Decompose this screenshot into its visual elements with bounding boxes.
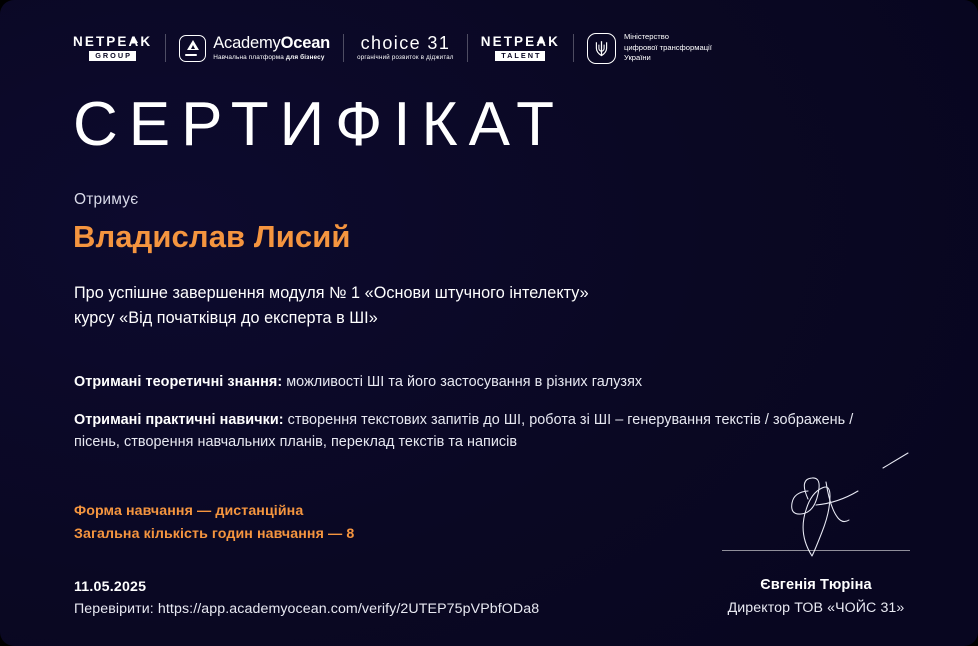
issue-date: 11.05.2025 [74,579,146,595]
logo-choice31: choice 31 органічний розвиток в діджитал [357,29,454,67]
logo-divider [165,34,166,62]
logo-divider [573,34,574,62]
outcome-theory-label: Отримані теоретичні знання: [74,374,282,390]
verify-url[interactable]: https://app.academyocean.com/verify/2UTE… [158,601,539,617]
academyocean-wordmark: AcademyOcean [213,35,330,52]
study-hours: Загальна кількість годин навчання — 8 [74,523,354,546]
outcome-practice-label: Отримані практичні навички: [74,412,284,428]
recipient-name: Владислав Лисий [73,219,351,255]
verify-label: Перевірити: [74,601,158,617]
outcome-practice: Отримані практичні навички: створення те… [74,409,864,453]
certificate-card: NETPEAK GROUP AcademyOcean Навчальна пла… [0,0,978,646]
verify-line: Перевірити: https://app.academyocean.com… [74,601,539,617]
netpeak-group-wordmark: NETPEAK [73,35,152,49]
study-meta: Форма навчання — дистанційна Загальна кі… [74,500,354,546]
peak-triangle-icon [537,36,545,43]
signatory-name: Євгенія Тюріна [722,577,910,593]
netpeak-group-subword: GROUP [89,51,136,61]
course-description: Про успішне завершення модуля № 1 «Основ… [74,281,774,330]
learning-outcomes: Отримані теоретичні знання: можливості Ш… [74,371,864,453]
logo-academy-ocean: AcademyOcean Навчальна платформа для біз… [179,29,330,67]
certificate-title: СЕРТИФІКАТ [73,94,565,156]
handwritten-signature-icon [712,450,922,565]
academyocean-sail-icon [179,35,206,62]
choice31-tagline: органічний розвиток в діджитал [357,55,454,61]
logo-ministry-digital-transformation: Міністерство цифрової трансформації Укра… [587,29,712,67]
ukraine-trident-icon [587,33,616,64]
peak-triangle-icon [130,36,138,43]
signatory-role: Директор ТОВ «ЧОЙС 31» [722,600,910,616]
outcome-theory: Отримані теоретичні знання: можливості Ш… [74,371,864,393]
logo-divider [467,34,468,62]
logo-netpeak-group: NETPEAK GROUP [73,29,152,67]
awarded-to-label: Отримує [74,191,138,209]
signature-rule [722,550,910,551]
partner-logo-bar: NETPEAK GROUP AcademyOcean Навчальна пла… [73,29,712,67]
logo-divider [343,34,344,62]
study-format: Форма навчання — дистанційна [74,500,354,523]
netpeak-talent-wordmark: NETPEAK [481,35,560,49]
choice31-wordmark: choice 31 [357,34,454,52]
logo-netpeak-talent: NETPEAK TALENT [481,29,560,67]
netpeak-talent-subword: TALENT [495,51,545,61]
course-description-line-1: Про успішне завершення модуля № 1 «Основ… [74,281,774,306]
outcome-theory-text: можливості ШІ та його застосування в різ… [282,374,642,390]
ministry-name: Міністерство цифрової трансформації Укра… [624,32,712,63]
course-description-line-2: курсу «Від початківця до експерта в ШІ» [74,306,774,331]
academyocean-tagline: Навчальна платформа для бізнесу [213,55,330,61]
